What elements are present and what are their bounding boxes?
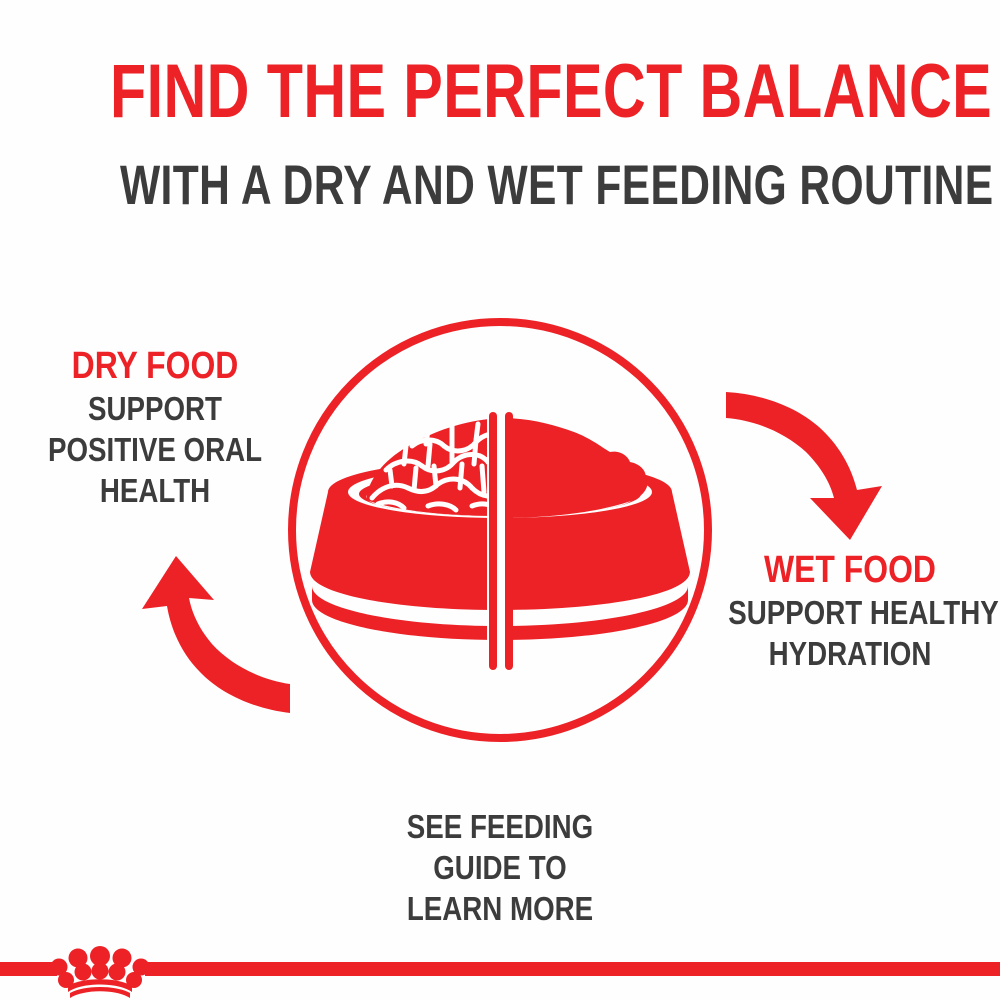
wet-food-benefit-line-2: HYDRATION bbox=[728, 633, 972, 674]
curved-arrow-down-right-icon bbox=[726, 392, 882, 540]
horizontal-rule-left-icon bbox=[0, 962, 57, 976]
dry-kibble-group bbox=[366, 418, 500, 516]
dry-food-benefit-line-2: POSITIVE ORAL bbox=[33, 429, 277, 470]
curved-arrow-up-left-icon bbox=[142, 556, 290, 713]
dry-food-benefit-line-1: SUPPORT bbox=[33, 388, 277, 429]
horizontal-rule-right-icon bbox=[145, 962, 1000, 976]
wet-food-callout: WET FOOD SUPPORT HEALTHY HYDRATION bbox=[705, 548, 995, 674]
poster-canvas: FIND THE PERFECT BALANCE WITH A DRY AND … bbox=[0, 0, 1000, 1000]
bowl-vertical-divider-icon bbox=[487, 410, 513, 670]
cta-line-2: GUIDE TO bbox=[332, 847, 668, 888]
royal-canin-crown-icon bbox=[51, 946, 150, 998]
divider-line-left bbox=[489, 412, 497, 670]
feeding-guide-cta: SEE FEEDING GUIDE TO LEARN MORE bbox=[332, 806, 668, 929]
wet-food-title: WET FOOD bbox=[728, 548, 972, 592]
cta-line-3: LEARN MORE bbox=[332, 888, 668, 929]
dry-food-callout: DRY FOOD SUPPORT POSITIVE ORAL HEALTH bbox=[10, 344, 300, 511]
dry-food-benefit-line-3: HEALTH bbox=[33, 470, 277, 511]
cta-line-1: SEE FEEDING bbox=[332, 806, 668, 847]
wet-food-benefit-line-1: SUPPORT HEALTHY bbox=[728, 592, 972, 633]
brand-footer bbox=[0, 930, 1000, 1000]
divider-line-right bbox=[505, 412, 513, 670]
dry-food-title: DRY FOOD bbox=[33, 344, 277, 388]
